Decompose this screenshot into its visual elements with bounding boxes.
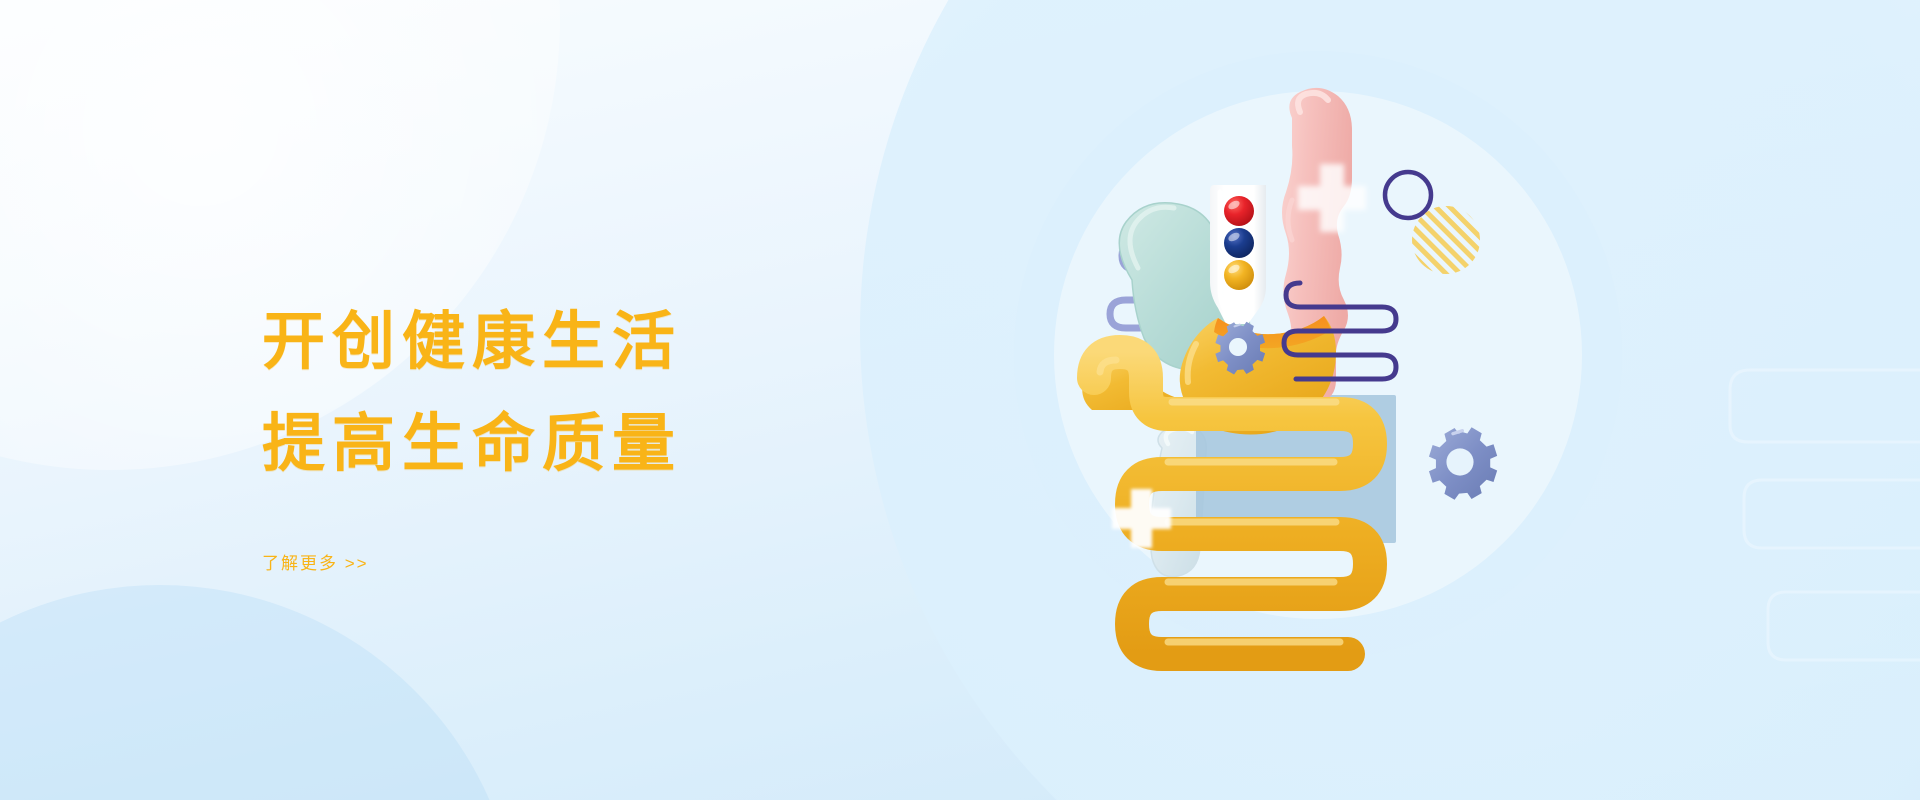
hatched-circle-decor: [1412, 206, 1480, 274]
medical-illustration: [900, 0, 1920, 800]
pill-amber: [1224, 260, 1254, 290]
page-title-line-1: 开创健康生活: [262, 300, 962, 386]
hero-copy-block: 开创健康生活 提高生命质量 了解更多 >>: [262, 300, 962, 574]
pill-red: [1224, 196, 1254, 226]
hero-banner: 开创健康生活 提高生命质量 了解更多 >>: [0, 0, 1920, 800]
background-bottom-left-circle: [0, 585, 520, 800]
pill-navy: [1224, 228, 1254, 258]
page-title-line-2: 提高生命质量: [262, 402, 962, 488]
learn-more-link[interactable]: 了解更多 >>: [262, 549, 369, 574]
